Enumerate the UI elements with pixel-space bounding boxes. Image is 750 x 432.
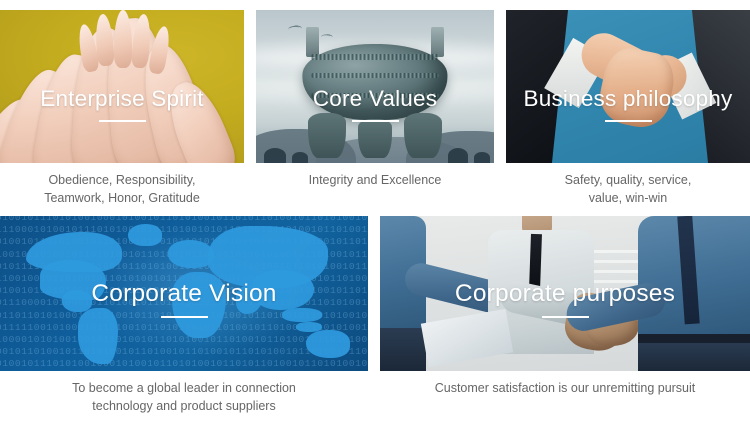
card-caption-corporate-purposes: Customer satisfaction is our unremitting… xyxy=(380,380,750,398)
caption-line-2: value, win-win xyxy=(506,190,750,208)
overlay-business-philosophy: Business philosophy xyxy=(506,88,750,122)
card-corporate-purposes[interactable]: Corporate purposes Customer satisfaction… xyxy=(380,216,750,398)
caption-line-2: technology and product suppliers xyxy=(0,398,368,416)
title-underline xyxy=(542,316,589,318)
caption-line-1: Integrity and Excellence xyxy=(256,172,494,190)
card-title-business-philosophy: Business philosophy xyxy=(506,88,750,111)
card-image-business-philosophy: Business philosophy xyxy=(506,10,750,163)
caption-line-1: Safety, quality, service, xyxy=(506,172,750,190)
caption-line-1: Obedience, Responsibility, xyxy=(0,172,244,190)
card-corporate-vision[interactable]: 0100101110101001000101001011010100101101… xyxy=(0,216,368,415)
card-title-corporate-vision: Corporate Vision xyxy=(0,282,368,307)
card-caption-business-philosophy: Safety, quality, service, value, win-win xyxy=(506,172,750,207)
card-image-core-values: Core Values xyxy=(256,10,494,163)
overlay-enterprise-spirit: Enterprise Spirit xyxy=(0,88,244,122)
title-underline xyxy=(352,120,399,122)
values-card-grid: Enterprise Spirit Obedience, Responsibil… xyxy=(0,0,750,432)
card-image-corporate-purposes: Corporate purposes xyxy=(380,216,750,371)
title-underline xyxy=(99,120,146,122)
card-enterprise-spirit[interactable]: Enterprise Spirit Obedience, Responsibil… xyxy=(0,10,244,207)
card-title-enterprise-spirit: Enterprise Spirit xyxy=(0,88,244,111)
caption-line-1: Customer satisfaction is our unremitting… xyxy=(380,380,750,398)
card-image-corporate-vision: 0100101110101001000101001011010100101101… xyxy=(0,216,368,371)
overlay-corporate-purposes: Corporate purposes xyxy=(380,282,750,318)
card-caption-core-values: Integrity and Excellence xyxy=(256,172,494,190)
caption-line-1: To become a global leader in connection xyxy=(0,380,368,398)
card-title-core-values: Core Values xyxy=(256,88,494,111)
overlay-corporate-vision: Corporate Vision xyxy=(0,282,368,318)
title-underline xyxy=(161,316,208,318)
card-title-corporate-purposes: Corporate purposes xyxy=(380,282,750,307)
card-caption-corporate-vision: To become a global leader in connection … xyxy=(0,380,368,415)
card-business-philosophy[interactable]: Business philosophy Safety, quality, ser… xyxy=(506,10,750,207)
card-image-enterprise-spirit: Enterprise Spirit xyxy=(0,10,244,163)
card-caption-enterprise-spirit: Obedience, Responsibility, Teamwork, Hon… xyxy=(0,172,244,207)
caption-line-2: Teamwork, Honor, Gratitude xyxy=(0,190,244,208)
overlay-core-values: Core Values xyxy=(256,88,494,122)
title-underline xyxy=(605,120,652,122)
card-core-values[interactable]: Core Values Integrity and Excellence xyxy=(256,10,494,190)
